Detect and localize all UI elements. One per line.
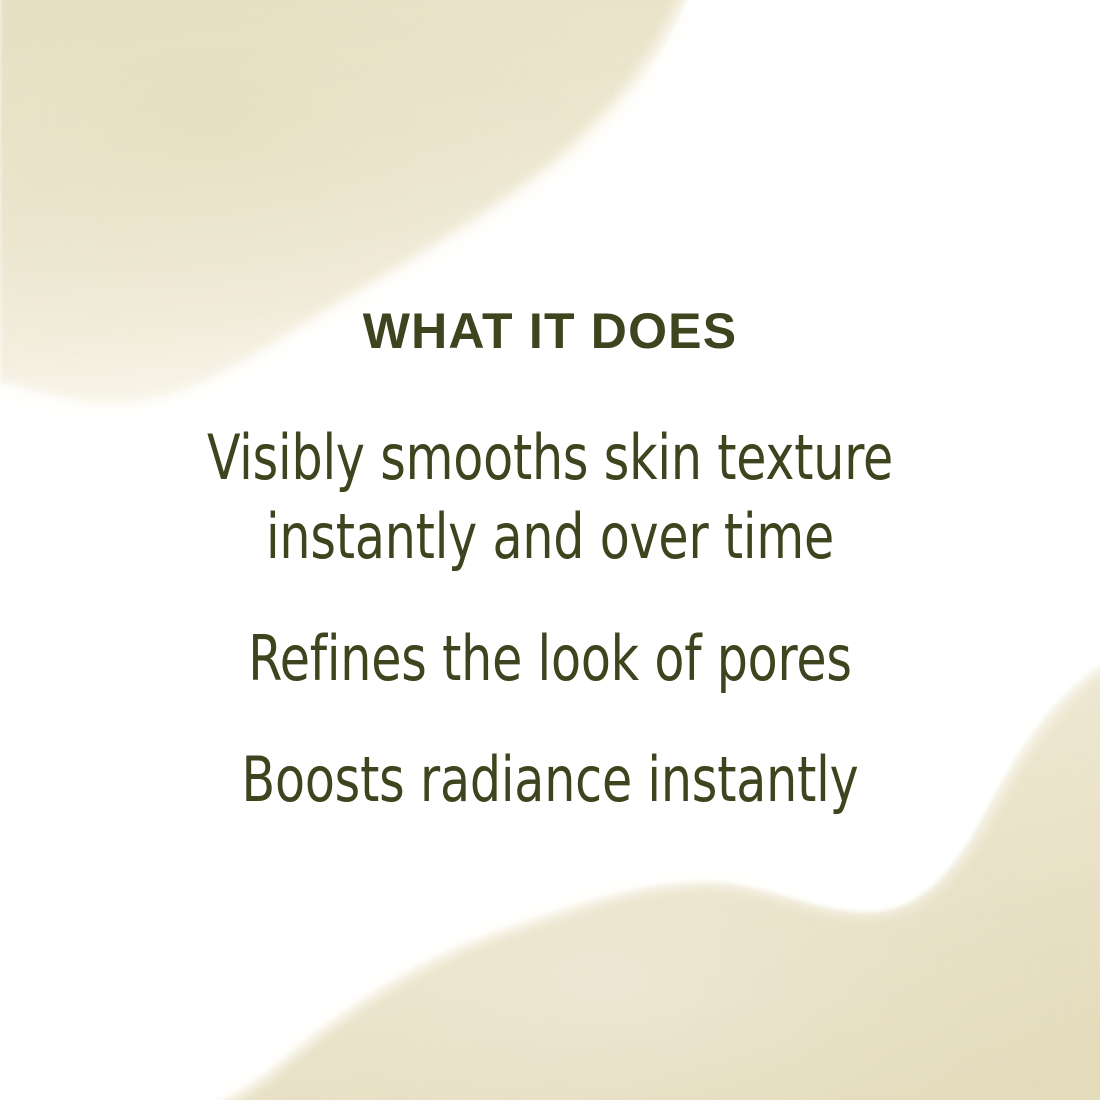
product-benefits-card: WHAT IT DOES Visibly smooths skin textur…	[0, 0, 1100, 1100]
benefits-list: Visibly smooths skin texture instantly a…	[0, 418, 1100, 819]
benefit-item: Boosts radiance instantly	[66, 740, 1034, 819]
page-title: WHAT IT DOES	[0, 306, 1100, 356]
benefit-item: Refines the look of pores	[66, 619, 1034, 698]
benefit-item: Visibly smooths skin texture instantly a…	[66, 418, 1034, 577]
benefits-content: WHAT IT DOES Visibly smooths skin textur…	[0, 0, 1100, 1100]
